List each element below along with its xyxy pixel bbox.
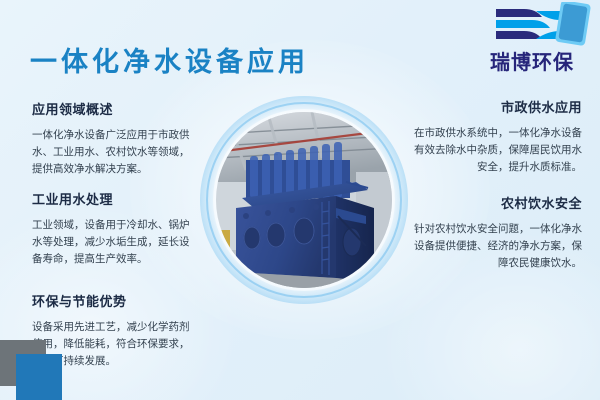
- decorative-squares: [0, 340, 62, 400]
- section-heading-text: 工业用水处理: [32, 193, 113, 208]
- section-heading: 应用领域概述: [26, 96, 198, 122]
- section-heading: 市政供水应用: [408, 94, 588, 120]
- section-heading: 环保与节能优势: [26, 288, 198, 314]
- page-title: 一体化净水设备应用: [30, 40, 309, 79]
- section-heading-text: 市政供水应用: [501, 101, 582, 116]
- section-left-1: 应用领域概述 一体化净水设备广泛应用于市政供水、工业用水、农村饮水等领域，提供高…: [26, 96, 198, 178]
- section-body: 在市政供水系统中，一体化净水设备有效去除水中杂质，保障居民饮用水安全，提升水质标…: [408, 125, 588, 176]
- section-body: 一体化净水设备广泛应用于市政供水、工业用水、农村饮水等领域，提供高效净水解决方案…: [26, 127, 198, 178]
- section-right-1: 市政供水应用 在市政供水系统中，一体化净水设备有效去除水中杂质，保障居民饮用水安…: [408, 94, 588, 176]
- section-heading-text: 农村饮水安全: [501, 197, 582, 212]
- section-body: 工业领域，设备用于冷却水、锅炉水等处理，减少水垢生成，延长设备寿命，提高生产效率…: [26, 217, 198, 268]
- equipment-photo: [216, 112, 392, 288]
- logo-mark-icon: [474, 2, 592, 48]
- section-heading-text: 环保与节能优势: [32, 295, 127, 310]
- slide-canvas: 瑞博环保 一体化净水设备应用: [0, 0, 600, 400]
- section-heading: 工业用水处理: [26, 186, 198, 212]
- section-heading: 农村饮水安全: [408, 190, 588, 216]
- logo-wordmark: 瑞博环保: [474, 46, 590, 75]
- section-heading-text: 应用领域概述: [32, 103, 113, 118]
- section-right-2: 农村饮水安全 针对农村饮水安全问题，一体化净水设备提供便捷、经济的净水方案，保障…: [408, 190, 588, 272]
- section-left-2: 工业用水处理 工业领域，设备用于冷却水、锅炉水等处理，减少水垢生成，延长设备寿命…: [26, 186, 198, 268]
- decor-square-blue: [16, 354, 62, 400]
- section-body: 针对农村饮水安全问题，一体化净水设备提供便捷、经济的净水方案，保障农民健康饮水。: [408, 221, 588, 272]
- company-logo: 瑞博环保: [474, 2, 592, 80]
